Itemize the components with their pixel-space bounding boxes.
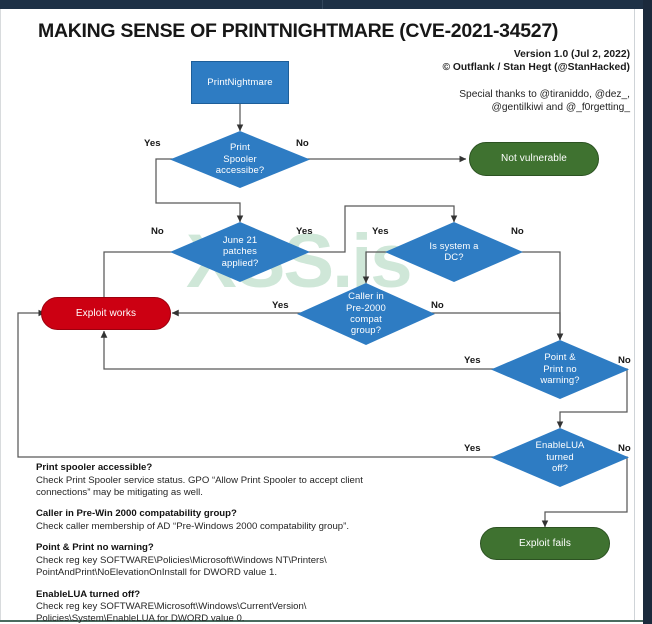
node-exploit-fails[interactable]: Exploit fails	[480, 527, 610, 560]
node-printnightmare[interactable]: PrintNightmare	[191, 61, 289, 104]
edge-label-caller-yes: Yes	[272, 300, 289, 311]
diagram-page: MAKING SENSE OF PRINTNIGHTMARE (CVE-2021…	[0, 0, 652, 624]
legend-answer-line-1: Check reg key SOFTWARE\Policies\Microsof…	[36, 555, 456, 567]
legend-answer-line-1: Check caller membership of AD “Pre-Windo…	[36, 521, 456, 533]
node-printnightmare-label: PrintNightmare	[207, 77, 272, 89]
edge-label-patches-yes: Yes	[296, 226, 313, 237]
legend-item: EnableLUA turned off? Check reg key SOFT…	[36, 589, 456, 624]
node-june21-patches-applied[interactable]: June 21patchesapplied?	[170, 222, 310, 282]
legend-answer-line-2: connections” may be mitigating as well.	[36, 487, 456, 499]
legend-question: Caller in Pre-Win 2000 compatability gro…	[36, 508, 456, 521]
node-is-system-a-dc-label: Is system aDC?	[429, 241, 478, 264]
edge-enablelua-yes-to-exploit-works	[18, 313, 509, 457]
node-exploit-works[interactable]: Exploit works	[41, 297, 171, 330]
edge-label-dc-yes: Yes	[372, 226, 389, 237]
legend-question: Point & Print no warning?	[36, 542, 456, 555]
legend-answer-line-1: Check Print Spooler service status. GPO …	[36, 475, 456, 487]
legend-item: Caller in Pre-Win 2000 compatability gro…	[36, 508, 456, 533]
edge-label-pointprint-yes: Yes	[464, 355, 481, 366]
edge-label-pointprint-no: No	[618, 355, 631, 366]
node-not-vulnerable-label: Not vulnerable	[501, 153, 567, 165]
node-enablelua-turned-off[interactable]: EnableLUAturnedoff?	[491, 428, 629, 487]
node-enablelua-turned-off-label: EnableLUAturnedoff?	[536, 440, 585, 474]
node-exploit-fails-label: Exploit fails	[519, 538, 571, 550]
node-june21-patches-applied-label: June 21patchesapplied?	[222, 235, 259, 269]
legend-item: Print spooler accessible? Check Print Sp…	[36, 462, 456, 499]
edge-label-patches-no: No	[151, 226, 164, 237]
node-point-and-print-no-warning[interactable]: Point &Print nowarning?	[491, 340, 629, 399]
node-is-system-a-dc[interactable]: Is system aDC?	[385, 222, 523, 282]
edge-label-spooler-no: No	[296, 138, 309, 149]
legend-block: Print spooler accessible? Check Print Sp…	[36, 462, 456, 624]
node-exploit-works-label: Exploit works	[76, 308, 136, 320]
edge-label-spooler-yes: Yes	[144, 138, 161, 149]
legend-answer-line-2: Policies\System\EnableLUA for DWORD valu…	[36, 613, 456, 624]
node-print-spooler-accessible[interactable]: PrintSpooleraccessibe?	[170, 131, 310, 188]
node-not-vulnerable[interactable]: Not vulnerable	[469, 142, 599, 176]
node-point-and-print-no-warning-label: Point &Print nowarning?	[540, 352, 579, 386]
node-caller-in-pre2000-group[interactable]: Caller inPre-2000compatgroup?	[297, 283, 435, 345]
edge-caller-no-to-pointprint	[417, 313, 560, 340]
legend-item: Point & Print no warning? Check reg key …	[36, 542, 456, 579]
edge-label-dc-no: No	[511, 226, 524, 237]
legend-answer-line-1: Check reg key SOFTWARE\Microsoft\Windows…	[36, 601, 456, 613]
edge-label-caller-no: No	[431, 300, 444, 311]
edge-label-enablelua-no: No	[618, 443, 631, 454]
legend-question: Print spooler accessible?	[36, 462, 456, 475]
edge-label-enablelua-yes: Yes	[464, 443, 481, 454]
legend-question: EnableLUA turned off?	[36, 589, 456, 602]
node-caller-in-pre2000-group-label: Caller inPre-2000compatgroup?	[346, 291, 386, 337]
node-print-spooler-accessible-label: PrintSpooleraccessibe?	[216, 142, 265, 176]
legend-answer-line-2: PointAndPrint\NoElevationOnInstall for D…	[36, 567, 456, 579]
